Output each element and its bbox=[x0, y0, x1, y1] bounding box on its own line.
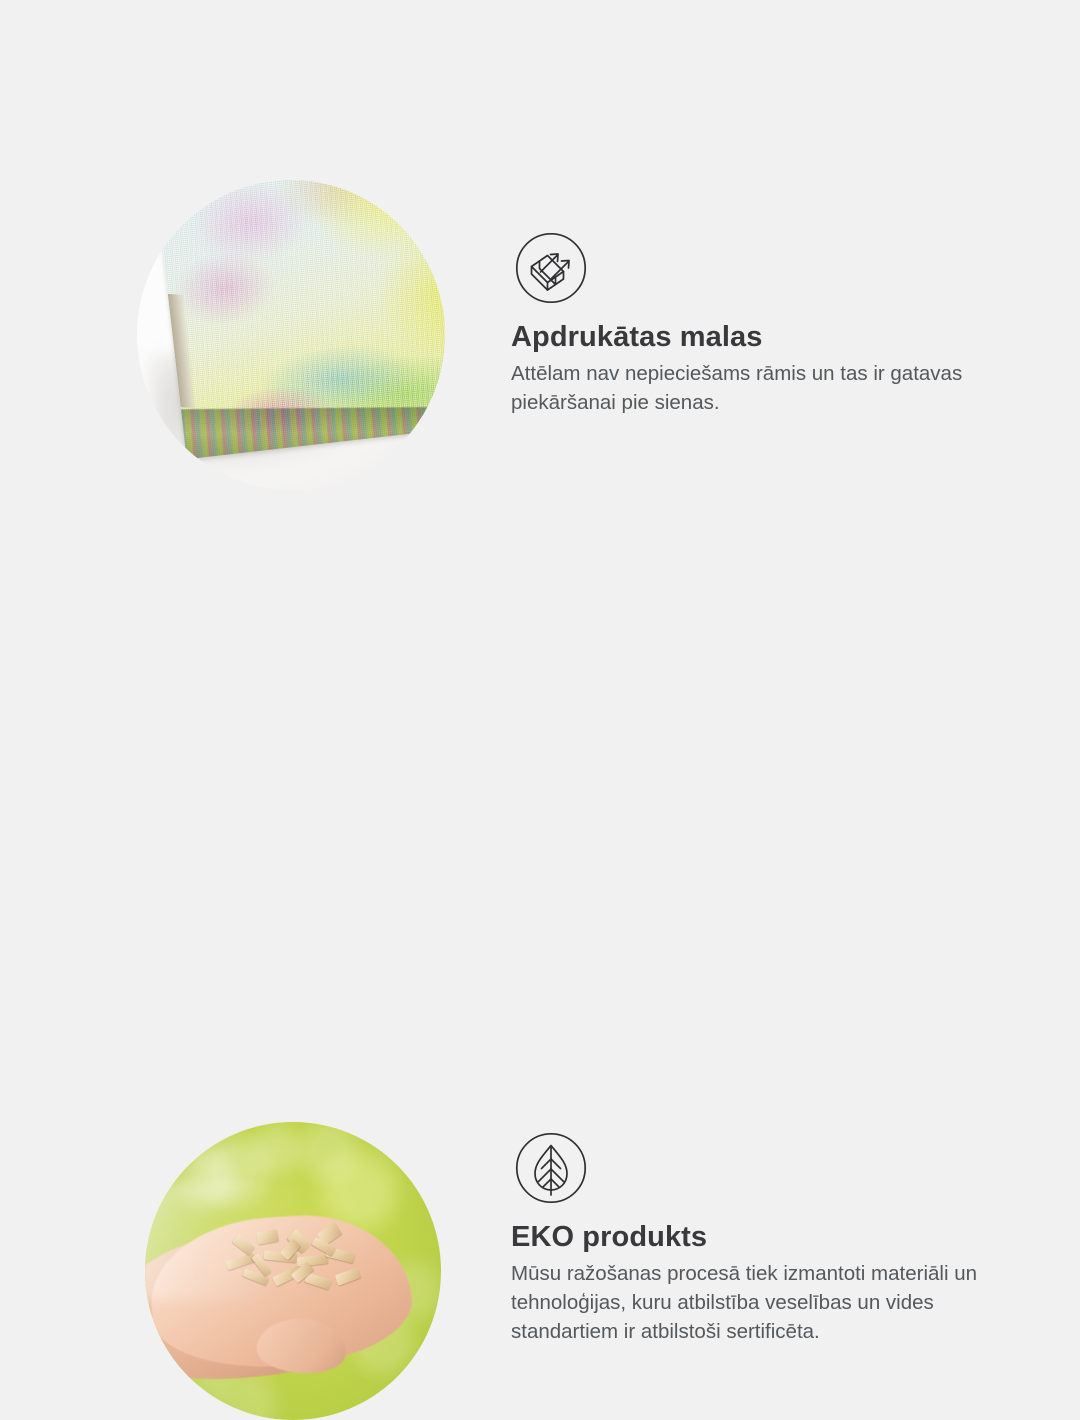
promo-page: Apdrukātas malas Attēlam nav nepieciešam… bbox=[0, 0, 1080, 1080]
feature-description: Attēlam nav nepieciešams rāmis un tas ir… bbox=[511, 359, 997, 417]
wood-chip bbox=[335, 1267, 361, 1286]
printed-edges-icon bbox=[514, 231, 588, 305]
wood-chip bbox=[256, 1229, 278, 1245]
feature-block-eco-product: EKO produkts Mūsu ražošanas procesā tiek… bbox=[0, 540, 1080, 1080]
wood-chip bbox=[226, 1253, 256, 1270]
wood-chip bbox=[304, 1273, 332, 1291]
leaf-icon bbox=[514, 1131, 588, 1205]
feature-title: EKO produkts bbox=[511, 1220, 1011, 1255]
wood-chips-hands-photo bbox=[145, 1122, 441, 1420]
wood-chip-pile bbox=[216, 1217, 388, 1312]
feature-text-printed-edges: Apdrukātas malas Attēlam nav nepieciešam… bbox=[511, 320, 1011, 417]
feature-title: Apdrukātas malas bbox=[511, 320, 1011, 355]
feature-block-printed-edges: Apdrukātas malas Attēlam nav nepieciešam… bbox=[0, 0, 1080, 540]
canvas-corner-photo bbox=[137, 180, 445, 490]
canvas-block bbox=[154, 180, 445, 459]
wood-chip bbox=[296, 1254, 328, 1266]
feature-text-eco-product: EKO produkts Mūsu ražošanas procesā tiek… bbox=[511, 1220, 1011, 1346]
feature-description: Mūsu ražošanas procesā tiek izmantoti ma… bbox=[511, 1259, 997, 1346]
